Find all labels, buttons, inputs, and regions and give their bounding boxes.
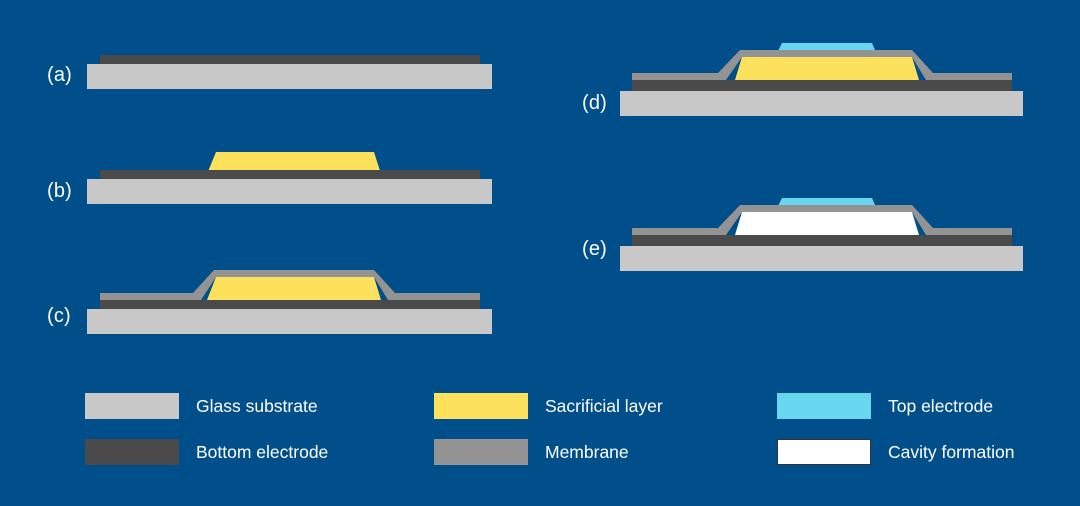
legend-item-bottom-electrode: Bottom electrode bbox=[85, 439, 328, 465]
legend-swatch-cavity-formation bbox=[777, 439, 871, 465]
legend-swatch-glass-substrate bbox=[85, 393, 179, 419]
legend-label-sacrificial-layer: Sacrificial layer bbox=[545, 396, 663, 417]
legend-item-membrane: Membrane bbox=[434, 439, 629, 465]
legend-label-cavity-formation: Cavity formation bbox=[888, 442, 1014, 463]
legend-label-glass-substrate: Glass substrate bbox=[196, 396, 318, 417]
legend-label-membrane: Membrane bbox=[545, 442, 629, 463]
legend-swatch-membrane bbox=[434, 439, 528, 465]
legend-label-bottom-electrode: Bottom electrode bbox=[196, 442, 328, 463]
legend-item-glass-substrate: Glass substrate bbox=[85, 393, 318, 419]
legend: Glass substrate Bottom electrode Sacrifi… bbox=[0, 0, 1080, 506]
legend-swatch-sacrificial-layer bbox=[434, 393, 528, 419]
legend-item-cavity-formation: Cavity formation bbox=[777, 439, 1014, 465]
legend-swatch-bottom-electrode bbox=[85, 439, 179, 465]
legend-swatch-top-electrode bbox=[777, 393, 871, 419]
legend-label-top-electrode: Top electrode bbox=[888, 396, 993, 417]
diagram-canvas: (a) (b) (c) (d) bbox=[0, 0, 1080, 506]
legend-item-top-electrode: Top electrode bbox=[777, 393, 993, 419]
legend-item-sacrificial-layer: Sacrificial layer bbox=[434, 393, 663, 419]
